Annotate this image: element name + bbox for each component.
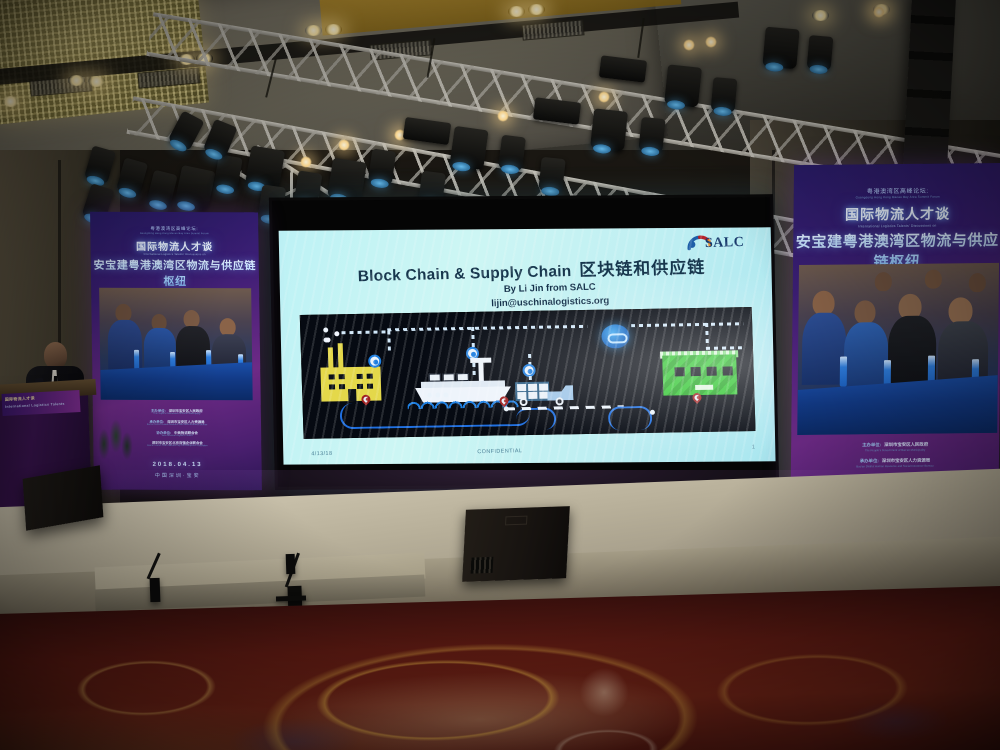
dotted-link <box>705 323 709 349</box>
conference-hall-scene: SALC Block Chain & Supply Chain区块链和供应链 B… <box>0 0 1000 750</box>
banner-title2-cjk: 安宝建粤港澳湾区物流与供应链枢纽 <box>91 257 259 290</box>
ceiling-downlight <box>508 6 525 17</box>
factory-smokestack <box>338 343 344 369</box>
ship-container <box>443 373 455 381</box>
ceiling-downlight <box>68 75 85 86</box>
slide-footer-confidential: CONFIDENTIAL <box>477 448 522 455</box>
truss-lamp <box>338 139 350 151</box>
factory-smokestack <box>328 347 334 369</box>
route-endpoint <box>504 406 509 411</box>
banner-right-audience-photo <box>797 263 999 435</box>
stage-step-bracket <box>286 554 296 574</box>
stage-step-bracket <box>150 578 161 602</box>
route-endpoint <box>650 410 655 415</box>
stage-light-fixture <box>664 64 702 107</box>
dotted-link <box>387 325 587 331</box>
stage-light-fixture <box>449 126 488 170</box>
banner-title1-cjk: 国际物流人才谈 <box>90 238 258 254</box>
presenter-head <box>44 342 67 369</box>
banner-left-heading: 粤港澳湾区高峰论坛: Guangdong Hong Kong Macao Bay… <box>90 226 259 293</box>
stage-light-fixture <box>327 158 367 203</box>
truss-lamp <box>683 39 695 51</box>
salc-logo-text: SALC <box>705 235 745 252</box>
ship-container <box>429 373 441 381</box>
dotted-link <box>341 330 389 334</box>
truck-wheel <box>555 397 563 405</box>
slide-footer-date: 4/13/18 <box>311 451 332 458</box>
cargo-pallet <box>528 392 537 399</box>
banner-title1-cjk: 国际物流人才谈 <box>793 203 1000 225</box>
sponsor-value-en: The People's Government of Bao'an Munici… <box>809 447 981 453</box>
ship-mast <box>478 361 484 383</box>
sponsor-value-en: The People's Government of Bao'an Munici… <box>109 413 245 415</box>
stage-light-fixture <box>638 117 665 153</box>
ceiling-downlight <box>325 24 342 35</box>
stage-floor-monitor <box>462 506 570 582</box>
stage-light-fixture <box>711 77 738 113</box>
stage-light-fixture <box>762 27 799 70</box>
cargo-pallet <box>539 384 548 391</box>
ceiling-downlight <box>812 10 829 21</box>
ceiling-downlight <box>528 4 545 15</box>
potted-plant <box>96 418 136 504</box>
warehouse-window <box>691 367 701 376</box>
stage-light-fixture <box>807 35 834 71</box>
factory-icon <box>320 367 381 402</box>
dotted-link <box>706 346 742 350</box>
supply-chain-infographic <box>300 307 756 439</box>
warehouse-window <box>707 367 717 376</box>
led-video-wall: SALC Block Chain & Supply Chain区块链和供应链 B… <box>269 194 779 489</box>
porthole <box>435 393 440 398</box>
cargo-pallet <box>539 392 548 399</box>
warehouse-window <box>675 367 685 376</box>
dotted-link <box>387 330 391 354</box>
truss-lamp <box>300 156 312 168</box>
presentation-slide: SALC Block Chain & Supply Chain区块链和供应链 B… <box>279 227 776 464</box>
smoke-puff <box>334 331 339 336</box>
smoke-puff <box>325 337 330 342</box>
stage-light-fixture <box>368 148 396 185</box>
stage-step-bracket <box>276 595 306 601</box>
banner-kicker-en: Guangdong Hong Kong Macao Bay Area Summi… <box>794 194 1000 200</box>
porthole <box>443 392 448 397</box>
stage-light-fixture <box>245 145 285 190</box>
truss-lamp <box>497 110 509 122</box>
ship-container <box>457 373 469 381</box>
network-dot <box>323 327 328 332</box>
truck-wheel <box>519 398 527 406</box>
speaker-grille <box>471 557 494 574</box>
warehouse-dock <box>695 385 713 390</box>
porthole <box>427 393 432 398</box>
banner-left-audience-photo <box>99 288 253 401</box>
dotted-link <box>631 322 743 327</box>
monitor-brand-logo <box>505 516 527 526</box>
podium-banner-line2: International Logistics Talents <box>5 402 65 409</box>
podium-banner-line1: 国际物流人才谈 <box>5 395 35 403</box>
stage-light-fixture <box>498 135 526 172</box>
stage-light-fixture <box>538 157 565 193</box>
podium-banner: 国际物流人才谈 International Logistics Talents <box>1 390 80 416</box>
carpet-pattern <box>0 586 1000 750</box>
blockchain-node-icon <box>601 324 630 348</box>
banner-kicker-en: Guangdong Hong Kong Macao Bay Area Summi… <box>90 232 258 236</box>
ceiling-downlight <box>2 96 19 107</box>
slide-title-cjk: 区块链和供应链 <box>579 258 706 280</box>
slide-footer: 4/13/18 CONFIDENTIAL 1 <box>297 438 763 464</box>
ceiling-downlight <box>305 25 322 36</box>
truss-lamp <box>705 36 717 48</box>
banner-title1-en: International Logistics Talents' Discuss… <box>793 223 1000 229</box>
banner-title1-en: International Logistics Talents' Discuss… <box>91 253 259 257</box>
stage-light-fixture <box>590 108 628 151</box>
ballroom-carpet <box>0 586 1000 750</box>
route-path <box>516 407 557 430</box>
slide-footer-page-number: 1 <box>752 444 756 450</box>
cargo-pallet <box>528 384 537 391</box>
route-path <box>608 406 653 431</box>
warehouse-window <box>723 366 733 375</box>
ceiling-downlight <box>88 76 105 87</box>
road-dashes <box>506 405 624 410</box>
cargo-pallet <box>517 384 526 391</box>
sponsor-value-en: Bao'an District Human Resource and Socia… <box>809 463 981 469</box>
truss-lamp <box>598 91 610 103</box>
truss-lamp <box>873 6 885 18</box>
